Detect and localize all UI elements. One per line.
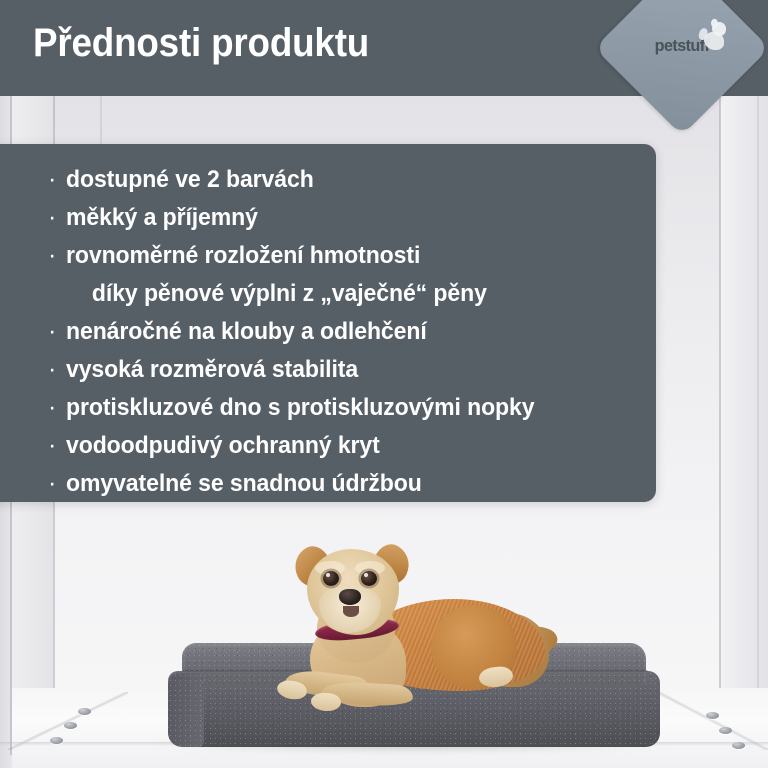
- dog-nose: [339, 589, 361, 605]
- feature-item-label: protiskluzové dno s protiskluzovými nopk…: [66, 389, 534, 427]
- shelf-pin-hole: [706, 712, 719, 719]
- bullet-icon: ·: [48, 312, 66, 350]
- feature-item: ·vysoká rozměrová stabilita: [48, 350, 640, 388]
- feature-item: ·omyvatelné se snadnou údržbou: [48, 464, 640, 502]
- feature-item: ·vodoodpudivý ochranný kryt: [48, 426, 640, 464]
- bullet-icon: ·: [48, 236, 66, 274]
- feature-item-label: dostupné ve 2 barvách: [66, 161, 314, 199]
- bullet-icon: ·: [48, 198, 66, 236]
- shelf-pin-hole: [78, 708, 91, 715]
- mattress-left-corner: [168, 673, 204, 747]
- feature-item-label: díky pěnové výplni z „vaječné“ pěny: [66, 275, 487, 313]
- dog-eye-highlight-right: [364, 573, 368, 577]
- shelf-pin-hole: [50, 737, 63, 744]
- bullet-icon: ·: [48, 464, 66, 502]
- dog-silhouette-icon: [702, 22, 728, 52]
- features-panel: ·dostupné ve 2 barvách·měkký a příjemný·…: [0, 144, 656, 502]
- feature-item-label: nenáročné na klouby a odlehčení: [66, 313, 427, 351]
- feature-item-label: rovnoměrné rozložení hmotnosti: [66, 237, 420, 275]
- brand-logo[interactable]: petstuff: [620, 0, 744, 110]
- features-list: ·dostupné ve 2 barvách·měkký a příjemný·…: [48, 160, 640, 502]
- cabinet-right-panel: [720, 95, 768, 768]
- shelf-seam-right: [650, 688, 768, 750]
- product-feature-banner: Přednosti produktu petstuff ·dostupné ve…: [0, 0, 768, 768]
- shelf-pin-hole: [719, 727, 732, 734]
- dog-eye-highlight-left: [326, 573, 330, 577]
- dog-front-paw-right: [310, 692, 341, 712]
- feature-item: ·rovnoměrné rozložení hmotnosti: [48, 236, 640, 274]
- feature-item-label: vysoká rozměrová stabilita: [66, 351, 358, 389]
- bullet-icon: ·: [48, 160, 66, 198]
- cabinet-edge-line-inner-right: [719, 95, 721, 705]
- dog-mouth: [343, 606, 359, 617]
- feature-item: ·měkký a příjemný: [48, 198, 640, 236]
- feature-item-label: vodoodpudivý ochranný kryt: [66, 427, 380, 465]
- feature-item: ·protiskluzové dno s protiskluzovými nop…: [48, 388, 640, 426]
- cabinet-edge-line-outer-right: [757, 95, 759, 755]
- bullet-icon: ·: [48, 388, 66, 426]
- feature-item: ·dostupné ve 2 barvách: [48, 160, 640, 198]
- bullet-icon: ·: [48, 350, 66, 388]
- feature-item: ·díky pěnové výplni z „vaječné“ pěny: [48, 274, 640, 312]
- dog-photo: [255, 527, 555, 717]
- page-title: Přednosti produktu: [33, 21, 369, 66]
- shelf-pin-hole: [64, 722, 77, 729]
- shelf-pin-hole: [732, 742, 745, 749]
- feature-item-label: měkký a příjemný: [66, 199, 258, 237]
- bullet-icon: ·: [48, 426, 66, 464]
- feature-item-label: omyvatelné se snadnou údržbou: [66, 465, 422, 503]
- mattress-fabric-texture: [168, 673, 204, 747]
- feature-item: ·nenáročné na klouby a odlehčení: [48, 312, 640, 350]
